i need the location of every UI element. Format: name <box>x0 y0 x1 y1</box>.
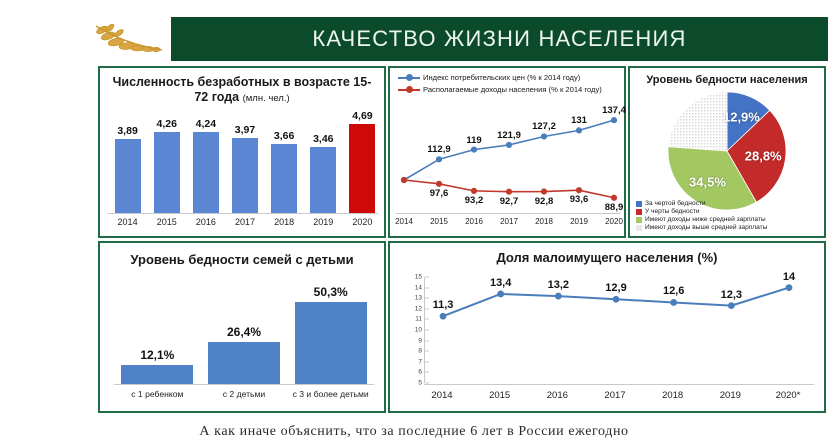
x-axis-label: 2020* <box>759 390 817 401</box>
pie-slice-label: 34,5% <box>689 174 726 189</box>
data-point-label: 12,9 <box>605 282 626 294</box>
x-axis-label: 2018 <box>528 217 560 226</box>
y-axis-tick-label: 6 <box>418 369 422 376</box>
data-point-label: 12,3 <box>721 289 742 301</box>
low-income-chart-title: Доля малоимущего населения (%) <box>398 250 816 265</box>
pie-slice-label: 12,9% <box>723 110 760 125</box>
legend-marker-cpi <box>398 77 420 79</box>
wheat-ear-logo <box>86 16 172 64</box>
y-axis-tick-label: 14 <box>415 284 422 291</box>
legend-swatch <box>636 217 642 223</box>
unemployment-x-axis: 2014201520162017201820192020 <box>108 213 378 232</box>
data-point-label: 14 <box>783 271 795 283</box>
bar <box>208 342 280 385</box>
legend-label: Имеют доходы выше средней зарплаты <box>645 224 767 231</box>
pie-legend-item: Имеют доходы ниже средней зарплаты <box>636 216 820 223</box>
legend-swatch <box>636 209 642 215</box>
legend-label-income: Располагаемые доходы населения (% к 2014… <box>423 85 602 94</box>
x-axis-label: 2015 <box>150 217 184 227</box>
pie-plot-area: 12,9%28,8%34,5% <box>668 92 786 210</box>
x-axis-label: 2016 <box>528 390 586 401</box>
pie-legend-item: Имеют доходы выше средней зарплаты <box>636 224 820 231</box>
x-axis-label: 2014 <box>111 217 145 227</box>
cpi-plot-area: 112,9119121,9127,2131137,497,693,292,792… <box>396 108 620 210</box>
x-axis-label: 2017 <box>228 217 262 227</box>
x-axis-label: 2017 <box>493 217 525 226</box>
chart-panel-low-income-share: Доля малоимущего населения (%) 151413121… <box>388 241 826 413</box>
family-poverty-x-axis: с 1 ребенкомс 2 детьмис 3 и более детьми <box>114 384 374 405</box>
x-axis-label: 2019 <box>306 217 340 227</box>
bar-value-label: 3,97 <box>235 124 255 136</box>
x-axis-label: 2014 <box>413 390 471 401</box>
x-axis-label: 2015 <box>423 217 455 226</box>
pie-legend: За чертой бедностиУ черты бедностиИмеют … <box>636 200 820 232</box>
bar <box>310 147 336 214</box>
unemployment-plot-area: 3,894,264,243,973,663,464,69 <box>108 114 378 214</box>
data-point-label: 13,4 <box>490 277 511 289</box>
x-axis-label: 2014 <box>388 217 420 226</box>
legend-label-cpi: Индекс потребительских цен (% к 2014 год… <box>423 73 580 82</box>
y-axis-tick-label: 9 <box>418 337 422 344</box>
bar-column: 12,1% <box>115 283 199 385</box>
data-point-label: 13,2 <box>548 279 569 291</box>
x-axis-label: 2016 <box>458 217 490 226</box>
bar-value-label: 3,46 <box>313 133 333 145</box>
legend-item-income: Располагаемые доходы населения (% к 2014… <box>398 85 620 94</box>
cpi-legend: Индекс потребительских цен (% к 2014 год… <box>398 73 620 97</box>
bar-value-label: 26,4% <box>227 325 261 339</box>
bar <box>232 138 258 214</box>
x-axis-label: с 3 и более детьми <box>276 389 386 399</box>
legend-swatch <box>636 201 642 207</box>
x-axis-label: 2019 <box>701 390 759 401</box>
bar-column: 26,4% <box>202 283 286 385</box>
x-axis-label: 2020 <box>598 217 630 226</box>
chart-panel-cpi-income: Индекс потребительских цен (% к 2014 год… <box>388 66 626 238</box>
bar-value-label: 50,3% <box>314 285 348 299</box>
bar <box>295 302 367 385</box>
pie-slice-label: 28,8% <box>745 149 782 164</box>
y-axis-tick-label: 7 <box>418 358 422 365</box>
pie-legend-item: У черты бедности <box>636 208 820 215</box>
x-axis-label: 2020 <box>345 217 379 227</box>
y-axis-tick-label: 15 <box>415 274 422 281</box>
bar-column: 4,24 <box>191 114 221 214</box>
legend-item-cpi: Индекс потребительских цен (% к 2014 год… <box>398 73 620 82</box>
bar-column: 3,89 <box>113 114 143 214</box>
bar-value-label: 4,69 <box>352 110 372 122</box>
bar-column: 3,66 <box>269 114 299 214</box>
chart-panel-unemployment: Численность безработных в возрасте 15-72… <box>98 66 386 238</box>
bar <box>121 365 193 385</box>
data-point-label: 12,6 <box>663 285 684 297</box>
page-title: КАЧЕСТВО ЖИЗНИ НАСЕЛЕНИЯ <box>171 17 828 61</box>
x-axis-label: 2018 <box>267 217 301 227</box>
bar-column: 3,46 <box>308 114 338 214</box>
y-axis-tick-label: 12 <box>415 305 422 312</box>
legend-label: Имеют доходы ниже средней зарплаты <box>645 216 766 223</box>
unemployment-chart-title: Численность безработных в возрасте 15-72… <box>110 75 374 105</box>
bar-column: 3,97 <box>230 114 260 214</box>
cpi-series-svg <box>396 108 622 212</box>
x-axis-label: 2019 <box>563 217 595 226</box>
low-income-plot-area: 1514131211109876511,313,413,212,912,612,… <box>424 277 814 383</box>
data-point-label: 11,3 <box>433 299 454 311</box>
bar-column: 4,26 <box>152 114 182 214</box>
bar-value-label: 3,89 <box>117 125 137 137</box>
pie-legend-item: За чертой бедности <box>636 200 820 207</box>
page-footer-text: А как иначе объяснить, что за последние … <box>0 424 828 438</box>
x-axis-label: 2016 <box>189 217 223 227</box>
bar-column: 4,69 <box>347 114 377 214</box>
family-poverty-plot-area: 12,1%26,4%50,3% <box>114 283 374 385</box>
bar <box>271 144 297 214</box>
x-axis-label: 2018 <box>644 390 702 401</box>
low-income-x-axis: 2014201520162017201820192020* <box>424 384 814 407</box>
y-axis-tick-label: 8 <box>418 348 422 355</box>
family-poverty-chart-title: Уровень бедности семей с детьми <box>108 252 376 267</box>
bar-value-label: 4,24 <box>196 118 216 130</box>
unemployment-title-units: (млн. чел.) <box>243 93 290 104</box>
bar <box>193 132 219 214</box>
y-axis-tick-label: 13 <box>415 295 422 302</box>
pie-slice <box>668 92 727 151</box>
legend-label: У черты бедности <box>645 208 700 215</box>
bar-column: 50,3% <box>289 283 373 385</box>
y-axis-tick-label: 10 <box>415 327 422 334</box>
bar <box>154 132 180 214</box>
x-axis-label: 2017 <box>586 390 644 401</box>
x-axis-label: 2015 <box>471 390 529 401</box>
bar <box>349 124 375 214</box>
bar-value-label: 12,1% <box>140 348 174 362</box>
chart-panel-poverty-pie: Уровень бедности населения 12,9%28,8%34,… <box>628 66 826 238</box>
header-band: КАЧЕСТВО ЖИЗНИ НАСЕЛЕНИЯ <box>171 17 828 61</box>
legend-swatch <box>636 225 642 231</box>
pie-chart-title: Уровень бедности населения <box>634 74 820 87</box>
bar <box>115 139 141 214</box>
cpi-x-axis: 2014201520162017201820192020 <box>396 213 620 232</box>
bar-value-label: 3,66 <box>274 130 294 142</box>
y-axis-tick-label: 11 <box>415 316 422 323</box>
chart-panel-family-poverty: Уровень бедности семей с детьми 12,1%26,… <box>98 241 386 413</box>
bar-value-label: 4,26 <box>156 118 176 130</box>
legend-marker-income <box>398 89 420 91</box>
legend-label: За чертой бедности <box>645 200 706 207</box>
y-axis-tick-label: 5 <box>418 380 422 387</box>
